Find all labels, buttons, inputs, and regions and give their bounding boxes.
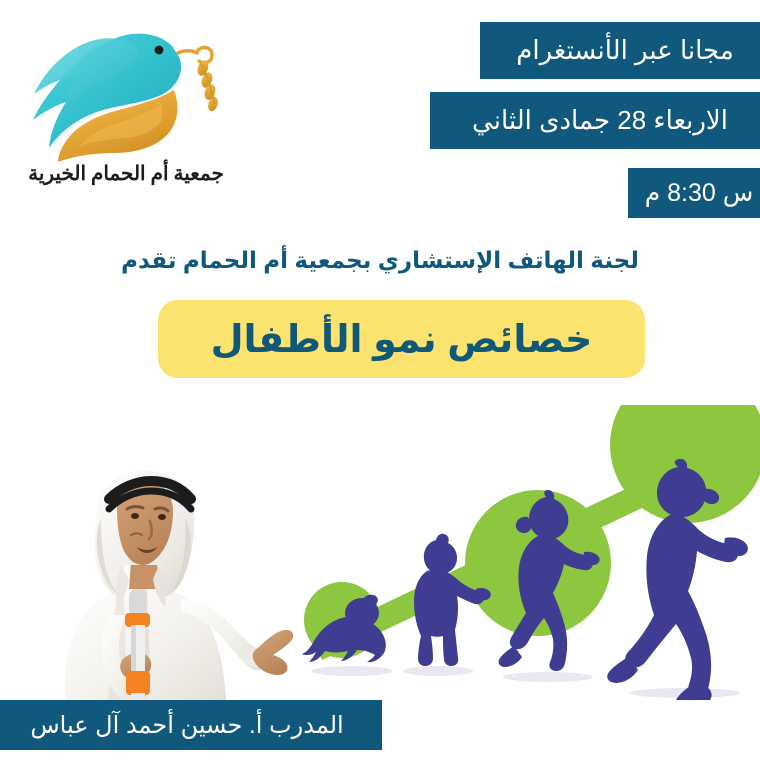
dove-eye-icon [155, 46, 164, 55]
event-title: خصائص نمو الأطفال [211, 317, 593, 362]
speaker-portrait [5, 465, 305, 715]
umm-al-hamam-charitable-society-logo: جمعية أم الحمام الخيرية [22, 12, 232, 197]
logo-calligraphy-text: جمعية أم الحمام الخيرية [28, 159, 224, 186]
dove-icon [33, 34, 197, 162]
banner-time: س 8:30 م [628, 168, 760, 218]
child-growth-stages-illustration [300, 405, 760, 700]
event-poster: جمعية أم الحمام الخيرية مجانا عبر الأنست… [0, 0, 760, 760]
wheat-stalk-icon [196, 48, 220, 113]
title-box: خصائص نمو الأطفال [158, 300, 645, 378]
banner-date: الاربعاء 28 جمادى الثاني [430, 92, 760, 149]
organizer-subtitle: لجنة الهاتف الإستشاري بجمعية أم الحمام ت… [90, 243, 670, 277]
banner-trainer-name: المدرب أ. حسين أحمد آل عباس [0, 700, 382, 750]
banner-free-instagram: مجانا عبر الأنستغرام [480, 22, 760, 79]
